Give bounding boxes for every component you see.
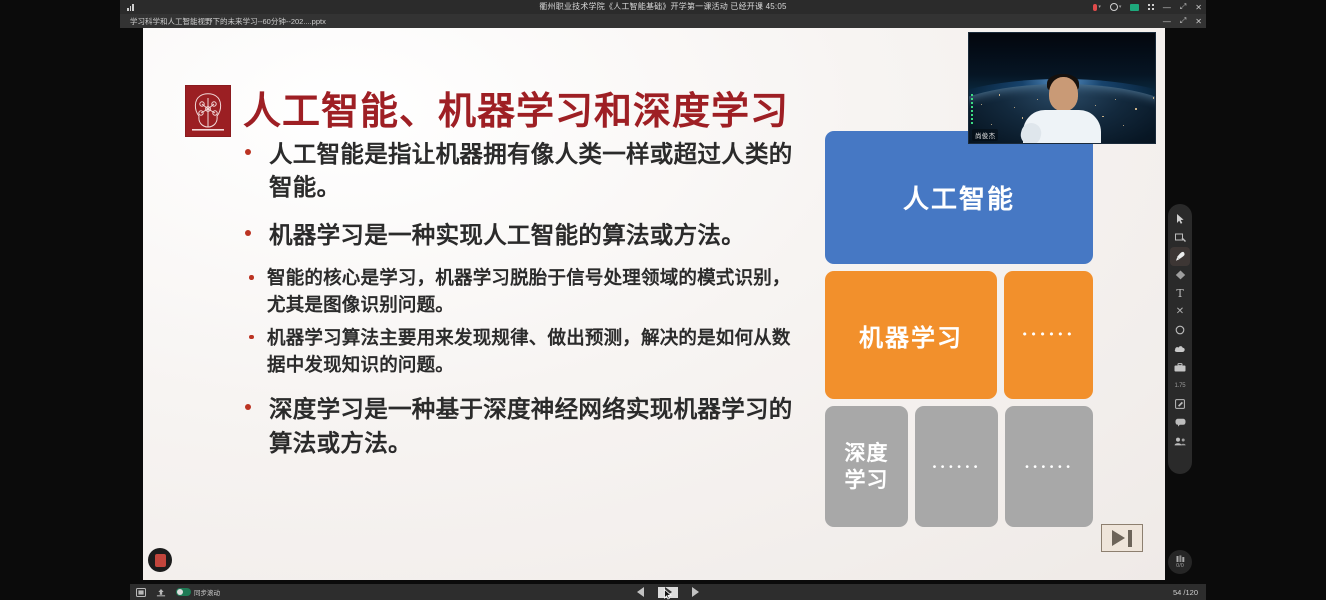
participants-icon[interactable] [1170,432,1190,451]
annotation-count-label: 0/0 [1176,564,1184,570]
mouse-cursor [664,589,672,600]
next-slide-icon[interactable] [1101,524,1143,552]
document-window-bar: 学习科学和人工智能视野下的未来学习--60分钟--202....pptx — ⤢… [120,14,1206,28]
cursor-arrow-icon[interactable] [1170,210,1190,229]
bullet-level1: 机器学习是一种实现人工智能的算法或方法。 [237,219,797,252]
layers-icon [1176,555,1185,563]
bullet-level2: 机器学习算法主要用来发现规律、做出预测，解决的是如何从数据中发现知识的问题。 [237,326,797,380]
cloud-icon[interactable] [1170,340,1190,359]
avatar-head [1049,77,1078,111]
minimize-button[interactable]: — [1163,3,1171,12]
diagram-block-dl-other2: ······ [1005,406,1093,527]
bullet-level1: 人工智能是指让机器拥有像人类一样或超过人类的智能。 [237,138,797,205]
participant-name-label: 尚俊杰 [972,129,998,141]
top-bar-left-group [120,3,136,11]
chat-bubble-icon[interactable] [1170,414,1190,433]
video-side-marker [971,94,973,124]
diagram-block-ai: 人工智能 [825,131,1093,264]
previous-slide-icon[interactable] [637,587,644,597]
annotation-count-button[interactable]: 0/0 [1168,550,1192,574]
stop-record-button[interactable] [148,548,172,572]
bullet-level2: 智能的核心是学习，机器学习脱胎于信号处理领域的模式识别，尤其是图像识别问题。 [237,266,797,320]
eraser-icon[interactable] [1170,266,1190,285]
close-button[interactable]: ✕ [1195,3,1202,12]
slide-body: 人工智能是指让机器拥有像人类一样或超过人类的智能。 机器学习是一种实现人工智能的… [237,138,797,474]
document-tab-title[interactable]: 学习科学和人工智能视野下的未来学习--60分钟--202....pptx [120,16,326,27]
window-controls: — ⤢ ✕ [1163,14,1202,28]
diagram-block-dl: 深度学习 [825,406,908,527]
window-minimize-button[interactable]: — [1163,17,1171,26]
screen-share-icon[interactable] [1130,4,1139,11]
signal-strength-icon [127,3,136,11]
close-x-icon[interactable]: ✕ [1170,303,1190,322]
diagram-block-ml-other: ······ [1004,271,1093,399]
participant-video-tile[interactable]: 尚俊杰 [968,32,1156,144]
laser-pointer-icon[interactable] [1170,229,1190,248]
concept-diagram: 人工智能 机器学习 ······ 深度学习 ······ ······ [825,131,1093,527]
bullet-level1: 深度学习是一种基于深度神经网络实现机器学习的算法或方法。 [237,393,797,460]
annotation-toolbar: T ✕ 1.75 [1168,204,1192,474]
meeting-title: 衢州职业技术学院《人工智能基础》开学第一课活动 已经开课 45:05 [120,0,1206,14]
note-edit-icon[interactable] [1170,395,1190,414]
window-restore-button[interactable]: ⤢ [1180,16,1186,26]
grid-view-icon[interactable] [1148,4,1154,10]
circle-shape-icon[interactable] [1170,321,1190,340]
restore-button[interactable]: ⤢ [1180,2,1186,12]
toolbox-icon[interactable] [1170,358,1190,377]
microphone-icon[interactable]: ▾ [1093,4,1101,11]
page-title: 人工智能、机器学习和深度学习 [243,80,789,135]
diagram-block-ml: 机器学习 [825,271,997,399]
meeting-top-bar: 衢州职业技术学院《人工智能基础》开学第一课活动 已经开课 45:05 ▾ ▾ —… [120,0,1206,14]
camera-icon[interactable]: ▾ [1110,3,1122,11]
stop-square-icon [155,554,166,567]
next-slide-icon[interactable] [692,587,699,597]
university-crest-icon [185,85,231,137]
sub-bullet-group: 智能的核心是学习，机器学习脱胎于信号处理领域的模式识别，尤其是图像识别问题。 机… [237,266,797,379]
app-root: 衢州职业技术学院《人工智能基础》开学第一课活动 已经开课 45:05 ▾ ▾ —… [0,0,1326,600]
top-bar-right-group: ▾ ▾ — ⤢ ✕ [1093,0,1202,14]
text-t-icon[interactable]: T [1170,284,1190,303]
stroke-width-icon[interactable]: 1.75 [1170,377,1190,396]
diagram-block-dl-other1: ······ [915,406,998,527]
brush-icon[interactable] [1170,247,1190,266]
page-indicator: 54 /120 [1173,588,1198,597]
window-close-button[interactable]: ✕ [1195,17,1202,26]
